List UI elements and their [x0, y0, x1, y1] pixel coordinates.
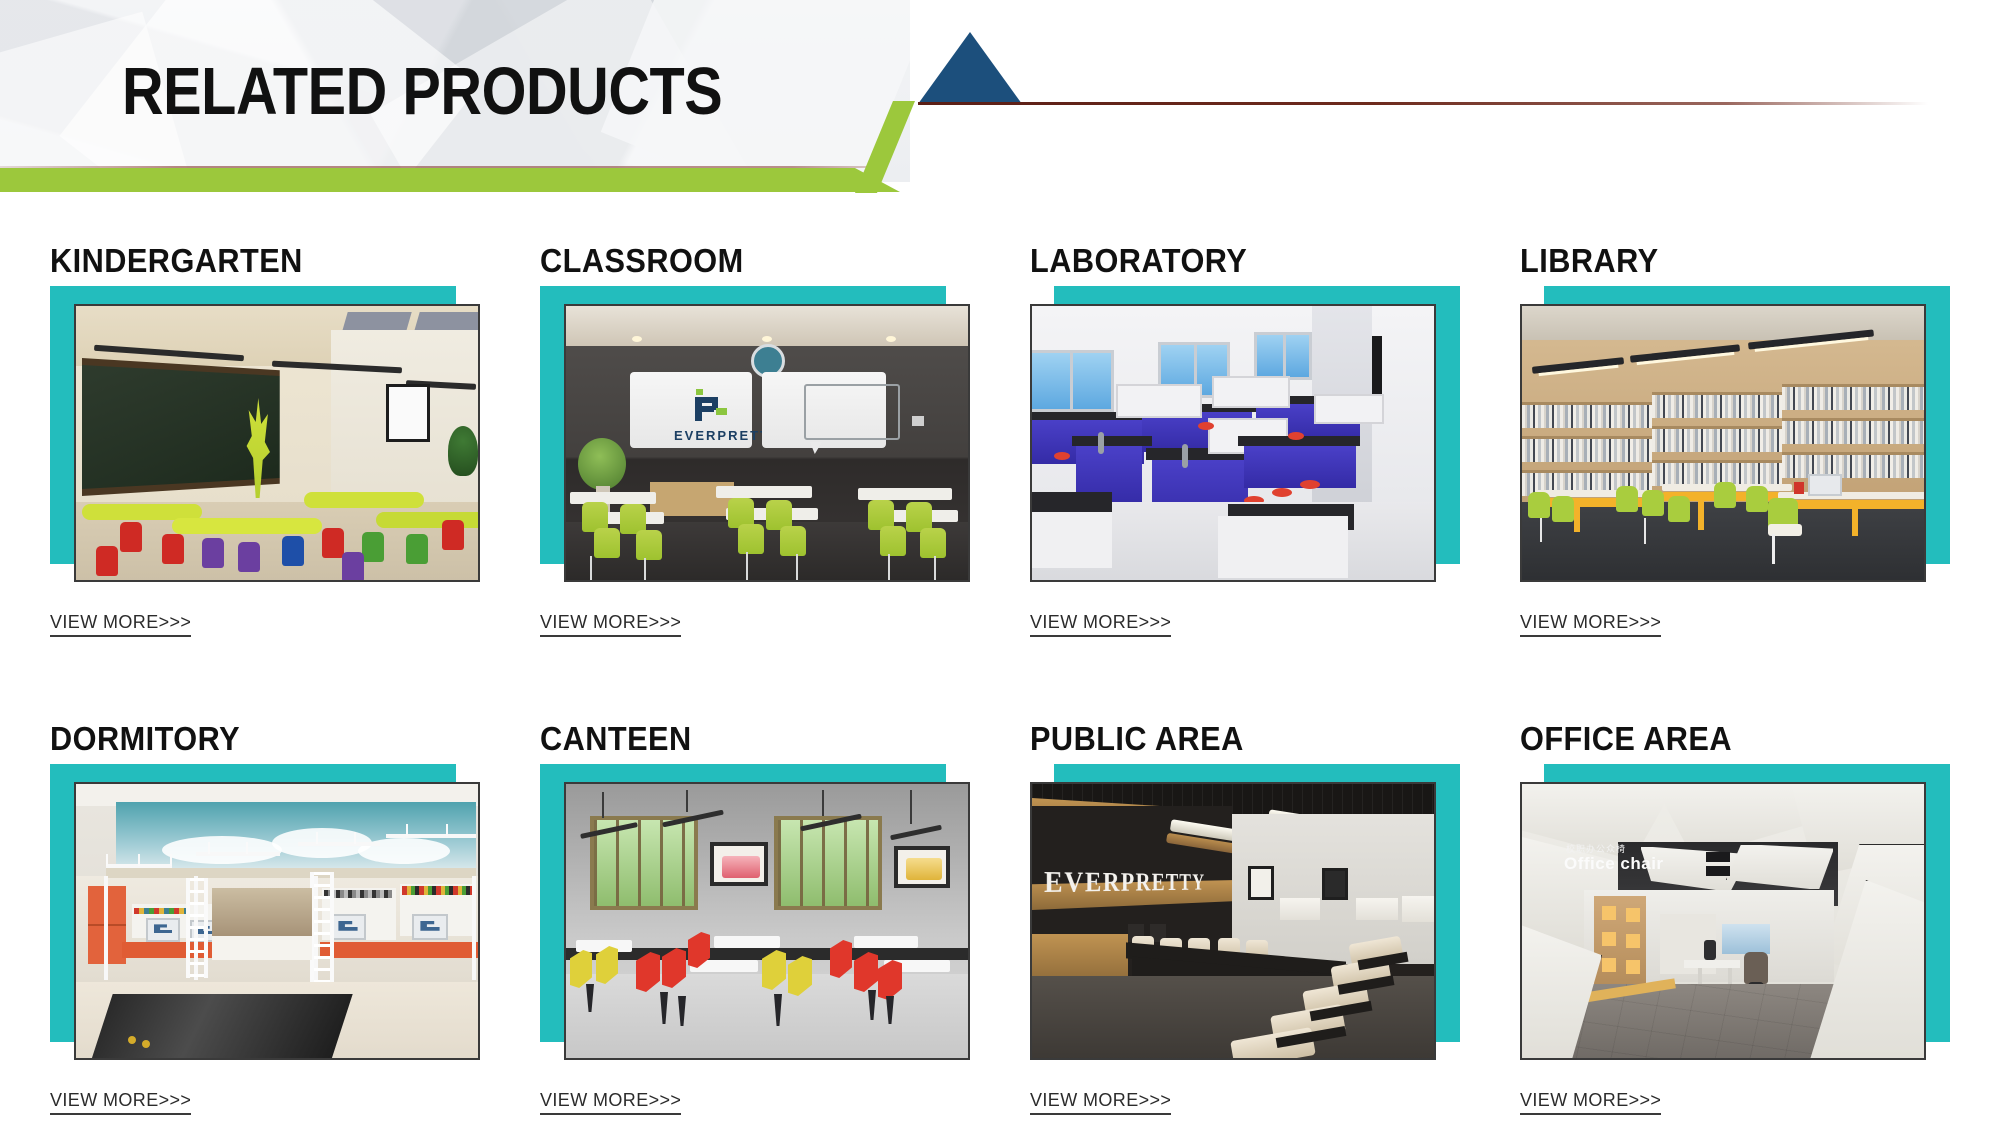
category-photo-kindergarten[interactable]	[74, 304, 480, 582]
category-photo-library[interactable]	[1520, 304, 1926, 582]
banner-maroon-rule	[918, 102, 1928, 105]
bed-ladder	[186, 878, 208, 978]
category-photo-canteen[interactable]	[564, 782, 970, 1060]
view-more-link[interactable]: VIEW MORE>>>	[50, 1090, 191, 1115]
wall-picture-fruit	[894, 846, 950, 888]
category-photo-office-area[interactable]: 校职办公众椅 Office chair	[1520, 782, 1926, 1060]
view-more-link[interactable]: VIEW MORE>>>	[1520, 612, 1661, 637]
monitor-icon	[146, 918, 180, 942]
wall-art	[1248, 866, 1274, 900]
category-thumbnail-wrapper[interactable]: 校职办公众椅 Office chair	[1520, 764, 1980, 1084]
category-thumbnail-wrapper[interactable]: EVERPRETTY	[1030, 764, 1490, 1084]
category-title: LABORATORY	[1030, 242, 1247, 280]
category-title: KINDERGARTEN	[50, 242, 303, 280]
desk-sketch-icon	[804, 384, 900, 440]
category-thumbnail-wrapper[interactable]	[50, 764, 510, 1084]
view-more-link[interactable]: VIEW MORE>>>	[540, 612, 681, 637]
category-thumbnail-wrapper[interactable]	[50, 286, 510, 606]
category-title: LIBRARY	[1520, 242, 1659, 280]
wall-art	[1322, 868, 1348, 900]
office-sign-en: Office chair	[1564, 854, 1664, 874]
category-photo-classroom[interactable]: EVERPRETTY	[564, 304, 970, 582]
wall-picture-cake	[710, 842, 768, 886]
office-chair	[1744, 952, 1768, 984]
category-title: DORMITORY	[50, 720, 240, 758]
category-photo-public-area[interactable]: EVERPRETTY	[1030, 782, 1436, 1060]
monitor-icon	[1808, 474, 1842, 496]
category-thumbnail-wrapper[interactable]	[1520, 286, 1980, 606]
view-more-link[interactable]: VIEW MORE>>>	[1030, 1090, 1171, 1115]
view-more-link[interactable]: VIEW MORE>>>	[50, 612, 191, 637]
category-title: CANTEEN	[540, 720, 692, 758]
view-more-link[interactable]: VIEW MORE>>>	[540, 1090, 681, 1115]
banner-maroon-underline-left	[0, 166, 880, 168]
category-title: OFFICE AREA	[1520, 720, 1732, 758]
monitor-icon	[1704, 940, 1716, 960]
banner-blue-triangle-icon	[918, 32, 1022, 104]
category-thumbnail-wrapper[interactable]	[1030, 286, 1490, 606]
category-thumbnail-wrapper[interactable]: EVERPRETTY	[540, 286, 1000, 606]
view-more-link[interactable]: VIEW MORE>>>	[1520, 1090, 1661, 1115]
monitor-icon	[330, 914, 366, 940]
view-more-link[interactable]: VIEW MORE>>>	[1030, 612, 1171, 637]
bed-ladder	[310, 872, 334, 982]
category-photo-laboratory[interactable]	[1030, 304, 1436, 582]
everpretty-logo-icon	[694, 388, 728, 422]
page-header-banner: RELATED PRODUCTS	[0, 0, 2000, 200]
category-photo-dormitory[interactable]	[74, 782, 480, 1060]
banner-green-strip	[0, 168, 900, 192]
monitor-icon	[412, 914, 448, 940]
everpretty-wall-sign: EVERPRETTY	[1044, 864, 1205, 900]
category-thumbnail-wrapper[interactable]	[540, 764, 1000, 1084]
category-title: CLASSROOM	[540, 242, 744, 280]
product-category-grid: KINDERGARTEN	[0, 200, 2000, 1125]
category-title: PUBLIC AREA	[1030, 720, 1244, 758]
page-title: RELATED PRODUCTS	[122, 58, 722, 125]
